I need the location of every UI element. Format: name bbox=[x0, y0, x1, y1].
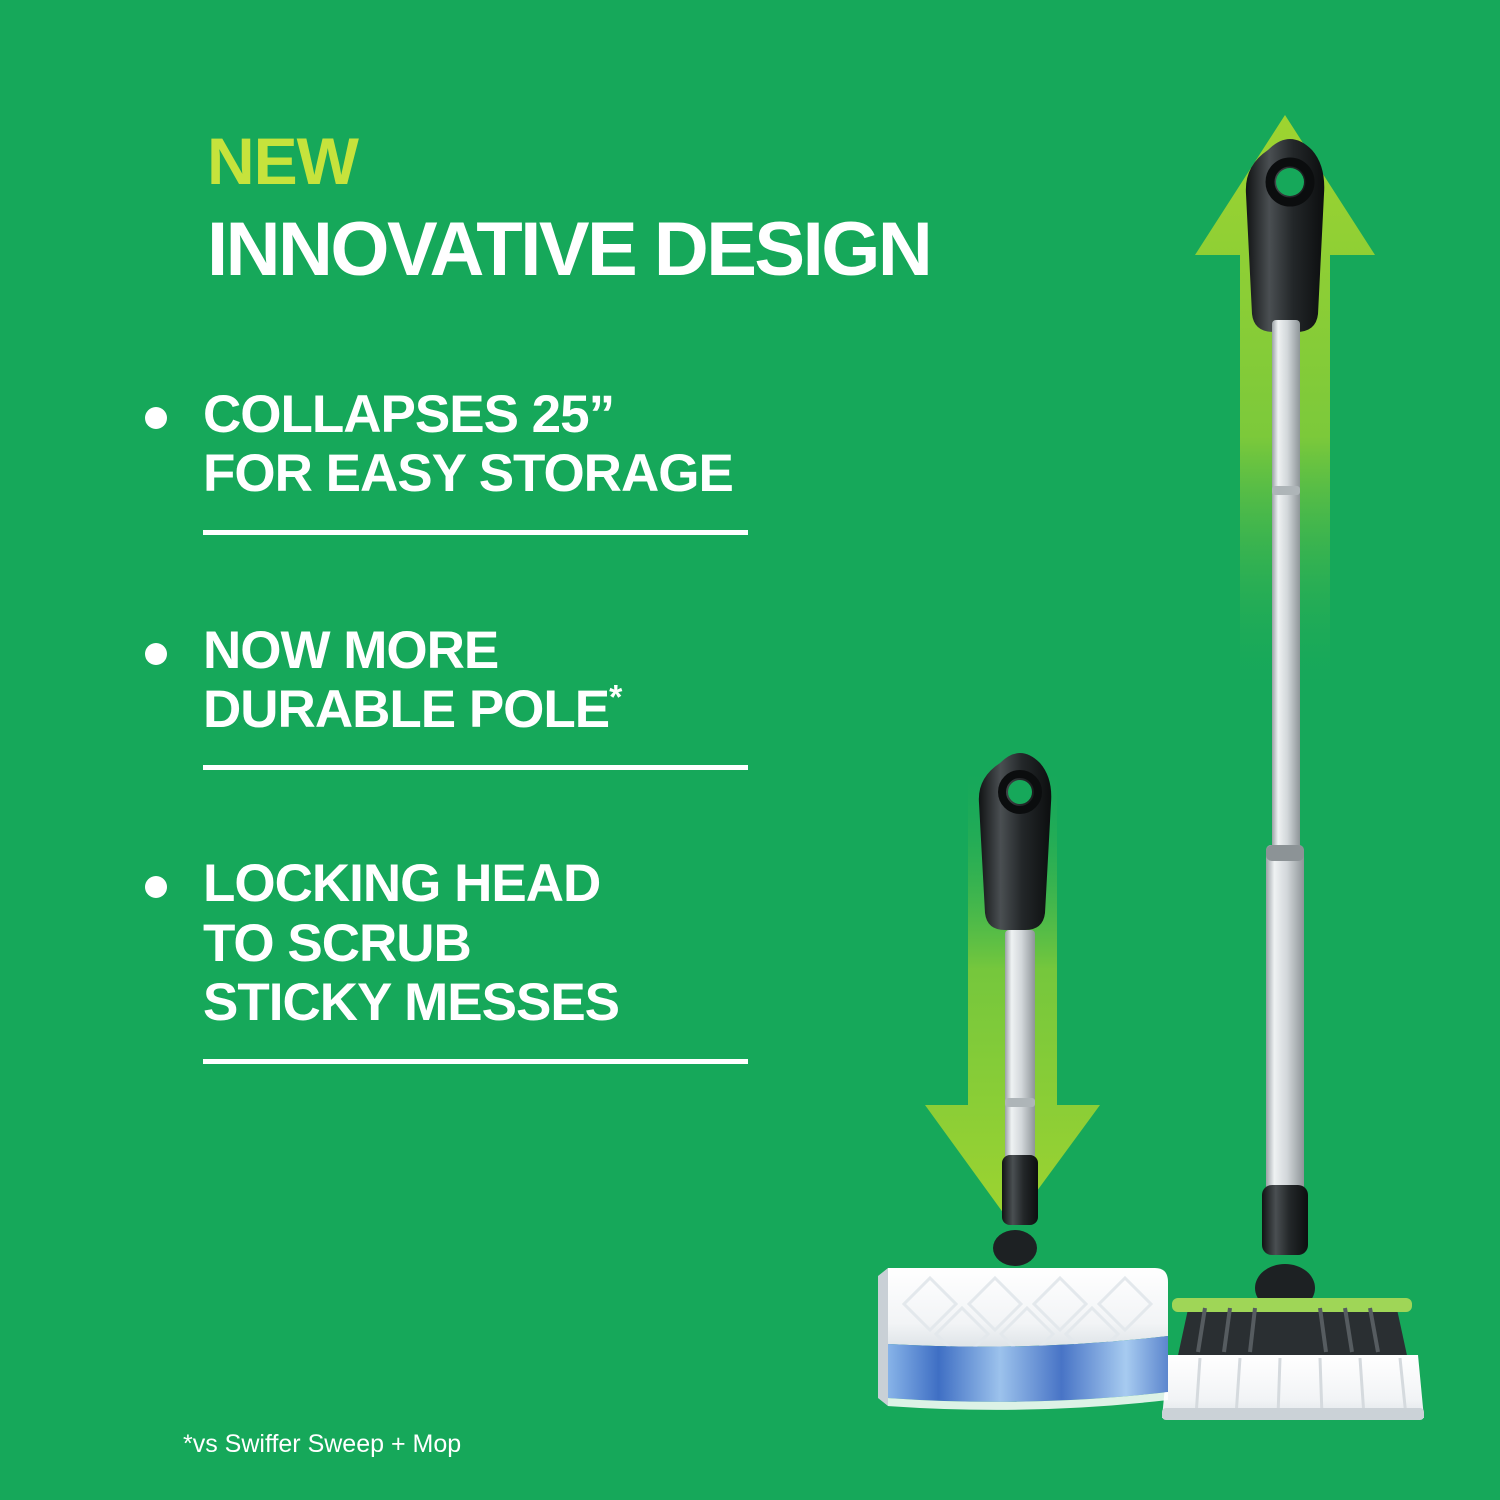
divider bbox=[203, 530, 748, 535]
bullet-3-line-2: TO SCRUB bbox=[203, 914, 765, 973]
bullet-1-line-1: COLLAPSES 25” bbox=[203, 385, 765, 444]
page-title: INNOVATIVE DESIGN bbox=[207, 212, 930, 288]
spacer bbox=[145, 770, 765, 854]
down-arrow-icon bbox=[925, 760, 1100, 1225]
wet-mopping-pad bbox=[878, 1268, 1168, 1410]
bullet-3-line-3: STICKY MESSES bbox=[203, 973, 765, 1032]
spacer bbox=[145, 535, 765, 621]
divider bbox=[203, 765, 748, 770]
bullet-1-line-2: FOR EASY STORAGE bbox=[203, 444, 765, 503]
divider bbox=[203, 1059, 748, 1064]
mop-extended bbox=[1162, 139, 1424, 1420]
bullet-dot-icon bbox=[145, 876, 167, 898]
bullet-2-line-2: DURABLE POLE bbox=[203, 680, 609, 739]
up-arrow-icon bbox=[1195, 115, 1375, 700]
bullet-text: NOW MORE DURABLE POLE* bbox=[203, 621, 765, 740]
product-feature-image: NEW INNOVATIVE DESIGN COLLAPSES 25” FOR … bbox=[0, 0, 1500, 1500]
bullet-dot-icon bbox=[145, 407, 167, 429]
feature-bullet-list: COLLAPSES 25” FOR EASY STORAGE NOW MORE … bbox=[145, 385, 765, 1064]
footnote: *vs Swiffer Sweep + Mop bbox=[183, 1430, 461, 1459]
bullet-2-line-2-wrap: DURABLE POLE* bbox=[203, 680, 765, 739]
list-item: LOCKING HEAD TO SCRUB STICKY MESSES bbox=[145, 854, 765, 1063]
list-item: COLLAPSES 25” FOR EASY STORAGE bbox=[145, 385, 765, 535]
bullet-text: COLLAPSES 25” FOR EASY STORAGE bbox=[203, 385, 765, 504]
mop-collapsed bbox=[979, 753, 1051, 1266]
eyebrow-new: NEW bbox=[207, 128, 358, 194]
list-item: NOW MORE DURABLE POLE* bbox=[145, 621, 765, 771]
bullet-dot-icon bbox=[145, 643, 167, 665]
bullet-2-line-1: NOW MORE bbox=[203, 621, 765, 680]
bullet-3-line-1: LOCKING HEAD bbox=[203, 854, 765, 913]
bullet-text: LOCKING HEAD TO SCRUB STICKY MESSES bbox=[203, 854, 765, 1032]
bullet-2-superscript: * bbox=[609, 678, 621, 716]
